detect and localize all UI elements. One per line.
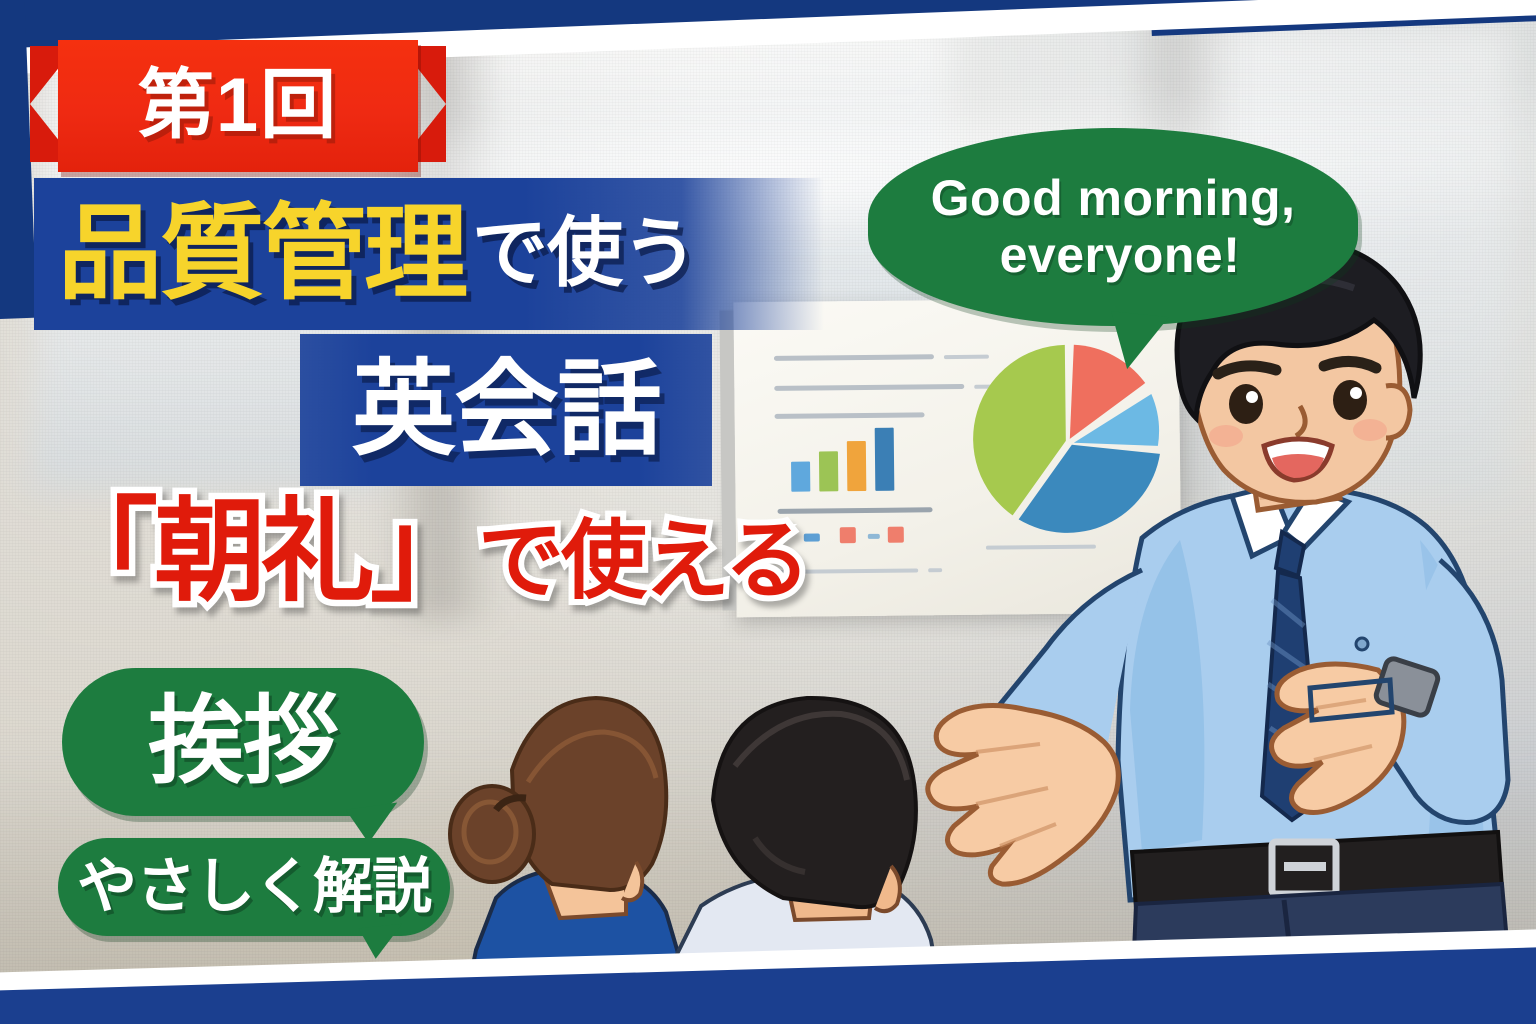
legend-swatch-red-1 (840, 527, 856, 543)
episode-label: 第1回 (138, 68, 338, 144)
badge-explanation-tail (358, 924, 405, 960)
episode-ribbon: 第1回 (30, 40, 446, 184)
ribbon-body: 第1回 (58, 40, 418, 172)
headline-line2: 英会話 (351, 358, 660, 462)
badge-greeting-label: 挨拶 (148, 694, 338, 790)
eye-left (1229, 384, 1263, 424)
badge-explanation: やさしく解説 (58, 838, 450, 936)
legend-swatch-dash (868, 534, 880, 539)
speech-bubble-english: Good morning, everyone! (868, 128, 1358, 326)
speech-bubble-tail (1105, 311, 1169, 373)
headline-line1-suffix: で使う (472, 216, 697, 292)
subheadline-quoted: 「朝礼」 (46, 496, 478, 608)
subheadline: 「朝礼」 で使える (46, 496, 807, 608)
bar-3 (847, 441, 867, 491)
bar-chart (791, 431, 895, 492)
headline-block-2: 英会話 (300, 334, 712, 486)
badge-greeting: 挨拶 (62, 668, 424, 816)
headline-keyword: 品質管理 (58, 202, 466, 306)
presenter (880, 240, 1536, 1000)
speech-line-2: everyone! (986, 227, 1241, 284)
speech-line-1: Good morning, (931, 170, 1296, 227)
bar-2 (819, 451, 838, 491)
thumbnail-canvas: Good morning, everyone! 第1回 品質管理 で使う 英会話… (0, 0, 1536, 1024)
bar-1 (791, 462, 810, 492)
badge-explanation-label: やさしく解説 (77, 857, 431, 917)
headline-block-1: 品質管理 で使う (34, 178, 824, 330)
subheadline-suffix: で使える (478, 518, 807, 604)
eye-right (1333, 380, 1367, 420)
